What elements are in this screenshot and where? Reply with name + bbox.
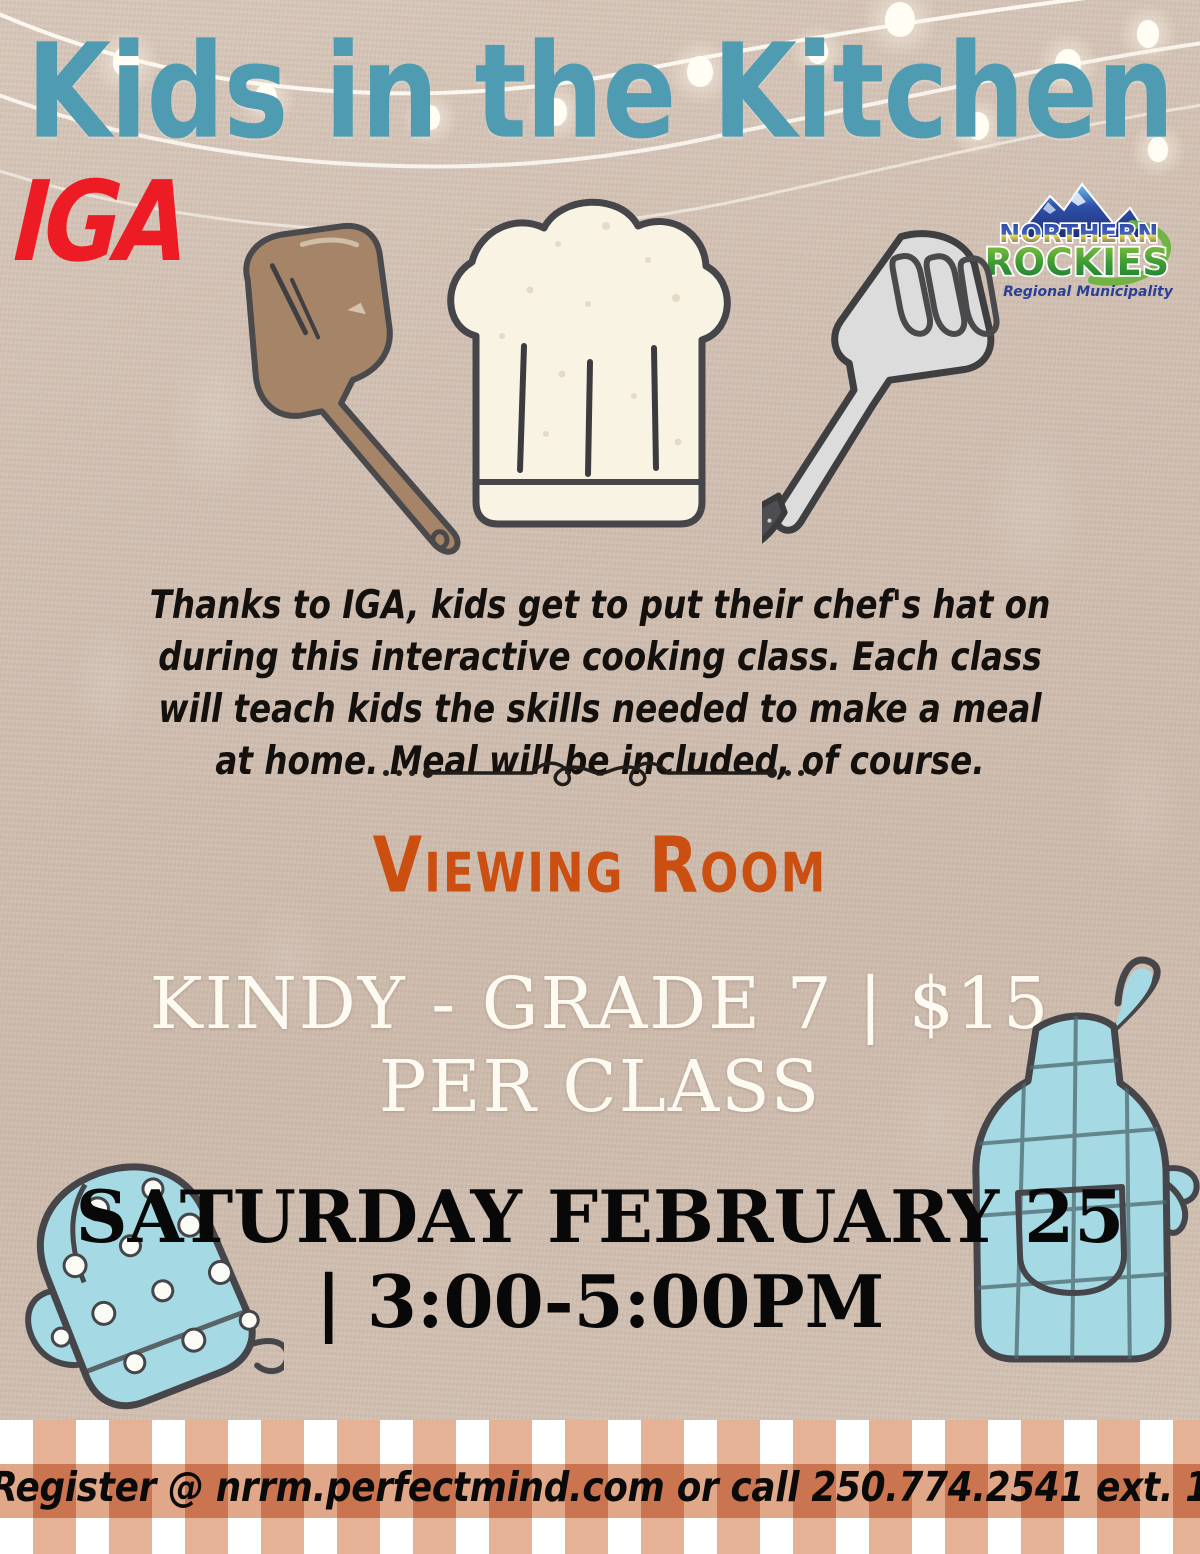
iga-logo: IGA xyxy=(11,168,187,279)
metal-turner-icon xyxy=(762,212,1012,572)
registration-info[interactable]: Register @ nrrm.perfectmind.com or call … xyxy=(18,1420,1182,1554)
page-title: Kids in the Kitchen xyxy=(0,28,1200,159)
footer-banner: Register @ nrrm.perfectmind.com or call … xyxy=(0,1420,1200,1554)
nrrm-line2: ROCKIES xyxy=(985,241,1170,284)
chef-hat-icon xyxy=(438,186,743,541)
date-line: SATURDAY FEBRUARY 25 xyxy=(76,1174,1125,1259)
time-line: | 3:00-5:00PM xyxy=(40,1260,1160,1345)
ornamental-divider-icon xyxy=(380,748,820,796)
date-time: SATURDAY FEBRUARY 25 | 3:00-5:00PM xyxy=(40,1175,1160,1345)
nrrm-tagline: Regional Municipality xyxy=(1003,284,1174,300)
location-heading: Viewing Room xyxy=(0,828,1200,905)
poster-canvas: Kids in the Kitchen IGA xyxy=(0,0,1200,1554)
